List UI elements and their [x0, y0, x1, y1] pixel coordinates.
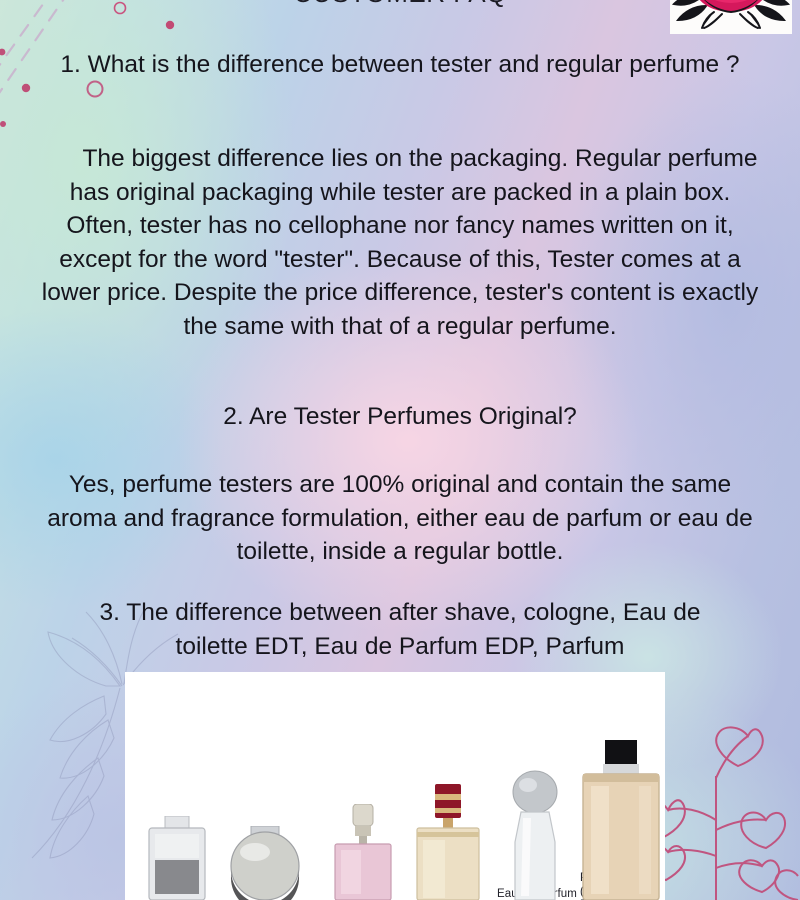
faq-answer-2: Yes, perfume testers are 100% original a… [34, 468, 766, 569]
parfum-extrait-bottle-icon [577, 740, 665, 900]
aftershave-bottle-icon [143, 816, 211, 900]
rose-flower-icon [670, 0, 792, 34]
eau-de-cologne-bottle-icon [331, 804, 395, 900]
faq-question-3: 3. The difference between after shave, c… [60, 596, 740, 663]
eau-fraiche-bottle-icon [225, 826, 305, 900]
faq-question-2: 2. Are Tester Perfumes Original? [28, 400, 772, 434]
concentration-chart: AfterShave /Splash 0-1% Concentration Ea… [125, 672, 665, 900]
eau-de-toilette-bottle-icon [413, 784, 483, 900]
page-header: CUSTOMER FAQ [0, 0, 800, 40]
faq-page: CUSTOMER FAQ [0, 0, 800, 900]
eau-de-parfum-bottle-icon [499, 770, 571, 900]
faq-answer-1: The biggest difference lies on the packa… [36, 142, 764, 343]
rose-badge [670, 0, 792, 34]
faq-question-1: 1. What is the difference between tester… [28, 46, 772, 83]
concentration-chart-card: AfterShave /Splash 0-1% Concentration Ea… [125, 672, 665, 900]
